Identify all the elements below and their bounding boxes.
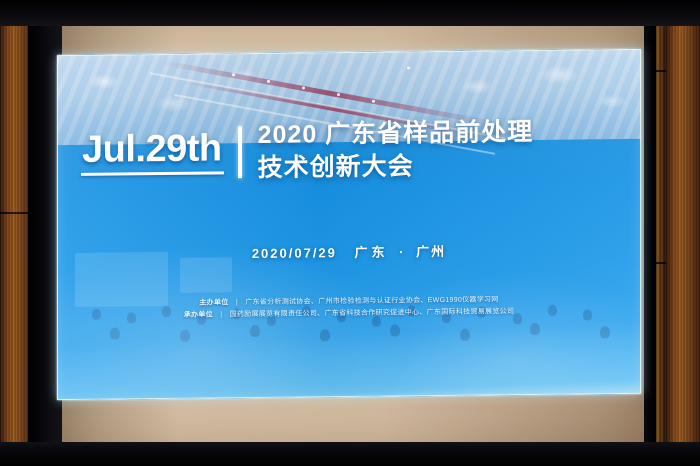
slide-title-line1: 2020 广东省样品前处理 — [258, 116, 534, 151]
organizer-separator: | — [231, 299, 243, 306]
organizer-separator: | — [215, 312, 227, 319]
wood-wall-panel-right — [666, 0, 700, 466]
slide-location-city: 广州 — [416, 244, 446, 259]
slide-location-province: 广东 — [343, 245, 389, 260]
slide-title-line2: 技术创新大会 — [258, 149, 534, 184]
slide-date-full: 2020/07/29 — [252, 245, 337, 261]
screen-frame-top — [0, 0, 700, 26]
organizer-label: 承办单位 — [184, 312, 213, 319]
headline-divider — [238, 126, 242, 178]
location-separator: · — [394, 244, 410, 259]
slide-headline: Jul.29th 2020 广东省样品前处理 技术创新大会 — [79, 116, 533, 186]
organizer-label: 主办单位 — [199, 299, 228, 306]
organizer-value: 广东省分析测试协会、广州市检验检测与认证行业协会、EWG1990仪器学习网 — [245, 296, 498, 306]
date-underline — [81, 171, 224, 176]
screen-frame-bottom — [0, 442, 700, 466]
slide-title: 2020 广东省样品前处理 技术创新大会 — [258, 116, 534, 184]
slide-date-english: Jul.29th — [79, 129, 234, 176]
screenshot-root: Jul.29th 2020 广东省样品前处理 技术创新大会 2020/07/29… — [0, 0, 700, 466]
projection-screen: Jul.29th 2020 广东省样品前处理 技术创新大会 2020/07/29… — [57, 49, 641, 400]
organizer-value: 国药励展展览有限责任公司、广东省科技合作研究促进中心、广东国际科技贸易展览公司 — [230, 308, 515, 318]
presentation-slide: Jul.29th 2020 广东省样品前处理 技术创新大会 2020/07/29… — [57, 49, 641, 400]
